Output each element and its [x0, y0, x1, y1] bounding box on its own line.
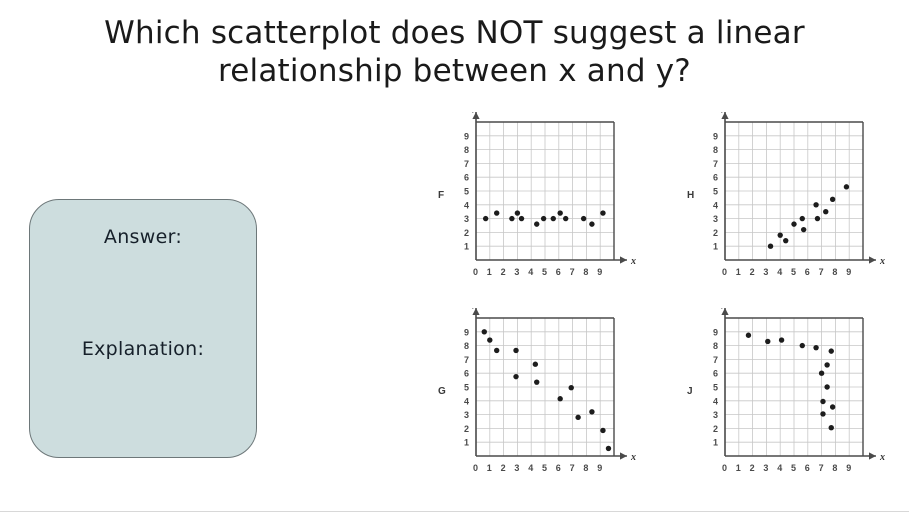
y-tick-label: 3 — [713, 410, 718, 420]
data-point — [746, 333, 751, 338]
data-point — [483, 216, 488, 221]
page-title-line-1: Which scatterplot does NOT suggest a lin… — [0, 14, 909, 52]
x-tick-label: 6 — [805, 463, 810, 473]
y-tick-label: 1 — [464, 438, 469, 448]
explanation-label: Explanation: — [30, 338, 256, 360]
y-tick-label: 3 — [464, 410, 469, 420]
scatterplot-f-label: F — [438, 190, 444, 201]
y-tick-label: 4 — [713, 200, 718, 210]
data-point — [600, 428, 605, 433]
y-tick-label: 3 — [464, 214, 469, 224]
x-tick-label: 7 — [570, 463, 575, 473]
y-tick-label: 7 — [713, 355, 718, 365]
data-point — [534, 221, 539, 226]
x-tick-label: 2 — [750, 267, 755, 277]
data-point — [563, 216, 568, 221]
x-axis-name: x — [879, 256, 885, 267]
x-tick-label: 7 — [819, 463, 824, 473]
y-axis-name: y — [472, 308, 478, 309]
y-tick-label: 9 — [713, 131, 718, 141]
answer-label: Answer: — [30, 226, 256, 248]
data-point — [820, 411, 825, 416]
data-point — [768, 244, 773, 249]
x-tick-label: 9 — [597, 267, 602, 277]
x-axis-arrow — [620, 256, 627, 263]
scatterplot-group: F xy0123456789123456789 H xy012345678912… — [432, 112, 902, 497]
data-point — [820, 399, 825, 404]
x-tick-label: 4 — [528, 463, 533, 473]
data-point — [581, 216, 586, 221]
x-tick-label: 8 — [832, 267, 837, 277]
x-axis-name: x — [630, 452, 636, 463]
y-tick-label: 4 — [713, 396, 718, 406]
data-point — [829, 425, 834, 430]
y-tick-label: 7 — [464, 159, 469, 169]
x-tick-label: 1 — [736, 463, 741, 473]
x-tick-label: 6 — [805, 267, 810, 277]
x-tick-label: 2 — [501, 463, 506, 473]
y-tick-label: 1 — [713, 438, 718, 448]
y-tick-label: 8 — [464, 341, 469, 351]
data-point — [824, 362, 829, 367]
data-point — [778, 232, 783, 237]
page-title: Which scatterplot does NOT suggest a lin… — [0, 14, 909, 90]
y-tick-label: 4 — [464, 200, 469, 210]
y-tick-label: 6 — [464, 173, 469, 183]
data-point — [783, 238, 788, 243]
data-point — [830, 197, 835, 202]
y-axis-arrow — [472, 308, 479, 315]
data-point — [823, 209, 828, 214]
y-tick-label: 6 — [713, 369, 718, 379]
y-tick-label: 1 — [713, 242, 718, 252]
data-point — [813, 202, 818, 207]
data-point — [813, 345, 818, 350]
y-tick-label: 5 — [713, 383, 718, 393]
y-tick-label: 5 — [713, 187, 718, 197]
y-tick-label: 6 — [713, 173, 718, 183]
data-point — [541, 216, 546, 221]
data-point — [600, 210, 605, 215]
y-axis-name: y — [721, 308, 727, 309]
x-tick-label: 9 — [846, 267, 851, 277]
data-point — [819, 371, 824, 376]
data-point — [791, 221, 796, 226]
y-tick-label: 2 — [713, 228, 718, 238]
scatterplot-h-canvas: xy0123456789123456789 — [695, 112, 885, 292]
data-point — [487, 337, 492, 342]
scatterplot-g-label: G — [438, 386, 446, 397]
scatterplot-g-canvas: xy0123456789123456789 — [446, 308, 636, 488]
data-point — [829, 348, 834, 353]
y-axis-name: y — [721, 112, 727, 113]
data-point — [569, 385, 574, 390]
x-tick-label: 4 — [777, 463, 782, 473]
y-axis-arrow — [721, 308, 728, 315]
data-point — [815, 216, 820, 221]
x-tick-label: 2 — [501, 267, 506, 277]
x-tick-label: 4 — [528, 267, 533, 277]
x-tick-label: 6 — [556, 267, 561, 277]
y-tick-label: 7 — [713, 159, 718, 169]
x-tick-label: 3 — [514, 267, 519, 277]
x-tick-label: 4 — [777, 267, 782, 277]
page-title-line-2: relationship between x and y? — [0, 52, 909, 90]
scatterplot-f-canvas: xy0123456789123456789 — [446, 112, 636, 292]
data-point — [765, 339, 770, 344]
y-tick-label: 2 — [464, 228, 469, 238]
y-axis-arrow — [721, 112, 728, 119]
data-point — [509, 216, 514, 221]
scatterplot-j-canvas: xy0123456789123456789 — [695, 308, 885, 488]
y-tick-label: 4 — [464, 396, 469, 406]
data-point — [779, 337, 784, 342]
scatterplot-j-label: J — [687, 386, 693, 397]
x-tick-label: 1 — [487, 267, 492, 277]
data-point — [606, 446, 611, 451]
y-tick-label: 9 — [713, 327, 718, 337]
x-tick-label: 5 — [542, 463, 547, 473]
answer-response-box[interactable]: Answer: Explanation: — [29, 199, 257, 458]
data-point — [801, 227, 806, 232]
x-tick-label: 0 — [473, 463, 478, 473]
x-tick-label: 7 — [570, 267, 575, 277]
y-axis-arrow — [472, 112, 479, 119]
x-tick-label: 5 — [791, 267, 796, 277]
x-tick-label: 0 — [473, 267, 478, 277]
data-point — [515, 210, 520, 215]
y-tick-label: 8 — [713, 341, 718, 351]
x-axis-arrow — [869, 256, 876, 263]
x-axis-arrow — [869, 452, 876, 459]
data-point — [830, 404, 835, 409]
scatterplot-j: J xy0123456789123456789 — [687, 308, 887, 488]
data-point — [557, 210, 562, 215]
y-tick-label: 2 — [464, 424, 469, 434]
data-point — [519, 216, 524, 221]
y-axis-name: y — [472, 112, 478, 113]
data-point — [551, 216, 556, 221]
y-tick-label: 2 — [713, 424, 718, 434]
data-point — [482, 329, 487, 334]
scatterplot-h: H xy0123456789123456789 — [687, 112, 887, 292]
data-point — [844, 184, 849, 189]
data-point — [824, 384, 829, 389]
x-tick-label: 9 — [597, 463, 602, 473]
x-axis-name: x — [630, 256, 636, 267]
y-tick-label: 9 — [464, 327, 469, 337]
data-point — [800, 216, 805, 221]
x-tick-label: 1 — [487, 463, 492, 473]
x-tick-label: 5 — [542, 267, 547, 277]
y-tick-label: 5 — [464, 187, 469, 197]
data-point — [533, 362, 538, 367]
y-tick-label: 7 — [464, 355, 469, 365]
data-point — [575, 415, 580, 420]
scatterplot-f: F xy0123456789123456789 — [438, 112, 638, 292]
data-point — [494, 348, 499, 353]
x-tick-label: 5 — [791, 463, 796, 473]
y-tick-label: 3 — [713, 214, 718, 224]
y-tick-label: 9 — [464, 131, 469, 141]
y-tick-label: 1 — [464, 242, 469, 252]
data-point — [513, 374, 518, 379]
y-tick-label: 6 — [464, 369, 469, 379]
data-point — [513, 348, 518, 353]
x-axis-name: x — [879, 452, 885, 463]
x-tick-label: 9 — [846, 463, 851, 473]
x-axis-arrow — [620, 452, 627, 459]
x-tick-label: 8 — [832, 463, 837, 473]
data-point — [534, 379, 539, 384]
x-tick-label: 3 — [514, 463, 519, 473]
x-tick-label: 8 — [583, 463, 588, 473]
x-tick-label: 8 — [583, 267, 588, 277]
x-tick-label: 2 — [750, 463, 755, 473]
x-tick-label: 3 — [763, 267, 768, 277]
data-point — [494, 210, 499, 215]
y-tick-label: 8 — [464, 145, 469, 155]
y-tick-label: 8 — [713, 145, 718, 155]
y-tick-label: 5 — [464, 383, 469, 393]
data-point — [800, 343, 805, 348]
x-tick-label: 0 — [722, 463, 727, 473]
x-tick-label: 6 — [556, 463, 561, 473]
x-tick-label: 1 — [736, 267, 741, 277]
data-point — [589, 221, 594, 226]
scatterplot-h-label: H — [687, 190, 694, 201]
data-point — [557, 396, 562, 401]
x-tick-label: 0 — [722, 267, 727, 277]
x-tick-label: 7 — [819, 267, 824, 277]
data-point — [589, 409, 594, 414]
x-tick-label: 3 — [763, 463, 768, 473]
scatterplot-g: G xy0123456789123456789 — [438, 308, 638, 488]
